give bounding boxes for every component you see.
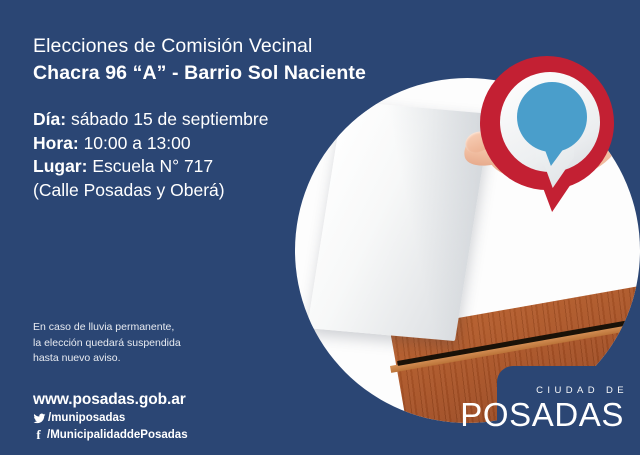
headline-line-2: Chacra 96 “A” - Barrio Sol Naciente xyxy=(33,60,366,86)
rain-disclaimer-line-1: En caso de lluvia permanente, xyxy=(33,320,181,336)
detail-place-label: Lugar: xyxy=(33,156,87,176)
detail-place-value: Escuela N° 717 xyxy=(92,156,213,176)
rain-disclaimer-line-3: hasta nuevo aviso. xyxy=(33,351,181,367)
detail-day-label: Día: xyxy=(33,109,66,129)
election-poster: Elecciones de Comisión Vecinal Chacra 96… xyxy=(0,0,640,455)
location-pin-icon xyxy=(470,52,630,220)
facebook-handle-row[interactable]: f /MunicipalidaddePosadas xyxy=(33,427,188,443)
headline: Elecciones de Comisión Vecinal Chacra 96… xyxy=(33,34,366,86)
facebook-handle-text: /MunicipalidaddePosadas xyxy=(47,427,188,443)
twitter-handle-text: /muniposadas xyxy=(48,410,125,426)
city-logo-name: POSADAS xyxy=(460,397,624,433)
facebook-icon: f xyxy=(33,427,44,443)
headline-line-1: Elecciones de Comisión Vecinal xyxy=(33,34,366,59)
detail-time-label: Hora: xyxy=(33,133,79,153)
twitter-icon xyxy=(33,412,46,425)
detail-time-value: 10:00 a 13:00 xyxy=(84,133,191,153)
detail-time: Hora: 10:00 a 13:00 xyxy=(33,132,268,156)
detail-address: (Calle Posadas y Oberá) xyxy=(33,179,268,203)
detail-place: Lugar: Escuela N° 717 xyxy=(33,155,268,179)
event-details: Día: sábado 15 de septiembre Hora: 10:00… xyxy=(33,108,268,202)
rain-disclaimer: En caso de lluvia permanente, la elecció… xyxy=(33,320,181,367)
rain-disclaimer-line-2: la elección quedará suspendida xyxy=(33,336,181,352)
detail-day-value: sábado 15 de septiembre xyxy=(71,109,269,129)
twitter-handle-row[interactable]: /muniposadas xyxy=(33,410,188,426)
website-url[interactable]: www.posadas.gob.ar xyxy=(33,390,188,409)
contact-block: www.posadas.gob.ar /muniposadas f /Munic… xyxy=(33,390,188,443)
city-logo-kicker: CIUDAD DE xyxy=(460,385,628,396)
city-logo: CIUDAD DE POSADAS xyxy=(460,385,624,433)
detail-day: Día: sábado 15 de septiembre xyxy=(33,108,268,132)
